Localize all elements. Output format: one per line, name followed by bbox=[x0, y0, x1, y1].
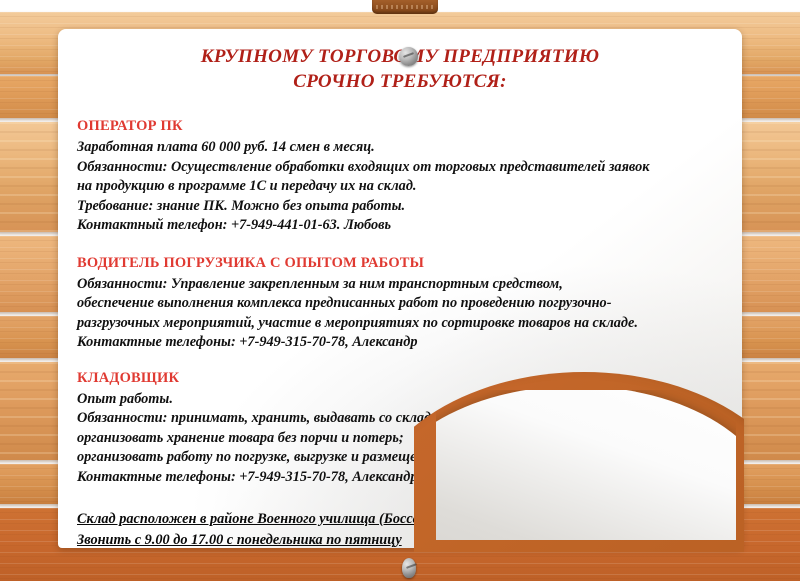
job-line: обеспечение выполнения комплекса предпис… bbox=[77, 294, 728, 314]
job-line: на продукцию в программе 1С и передачу и… bbox=[77, 177, 728, 197]
job-listing-kladovshchik: КЛАДОВЩИК Опыт работы. Обязанности: прин… bbox=[77, 370, 728, 488]
job-line: Обязанности: Осуществление обработки вхо… bbox=[77, 158, 728, 178]
job-contact-line: Контактные телефоны: +7-949-315-70-78, А… bbox=[77, 468, 728, 488]
poster-footer: Склад расположен в районе Военного учили… bbox=[77, 509, 742, 551]
footer-location-line: Склад расположен в районе Военного учили… bbox=[77, 509, 742, 530]
job-heading: КЛАДОВЩИК bbox=[77, 370, 728, 387]
job-line: Обязанности: Управление закрепленным за … bbox=[77, 275, 728, 295]
job-heading: ВОДИТЕЛЬ ПОГРУЗЧИКА С ОПЫТОМ РАБОТЫ bbox=[77, 255, 728, 272]
job-line: разгрузочных мероприятий, участие в меро… bbox=[77, 314, 728, 334]
title-line-2: СРОЧНО ТРЕБУЮТСЯ: bbox=[58, 69, 742, 94]
job-listing-voditel-pogruzchika: ВОДИТЕЛЬ ПОГРУЗЧИКА С ОПЫТОМ РАБОТЫ Обяз… bbox=[77, 255, 728, 353]
job-line: Заработная плата 60 000 руб. 14 смен в м… bbox=[77, 138, 728, 158]
job-contact-line: Контактный телефон: +7-949-441-01-63. Лю… bbox=[77, 216, 728, 236]
paper-sheet: КРУПНОМУ ТОРГОВОМУ ПРЕДПРИЯТИЮ СРОЧНО ТР… bbox=[58, 29, 742, 548]
poster-stage: КРУПНОМУ ТОРГОВОМУ ПРЕДПРИЯТИЮ СРОЧНО ТР… bbox=[0, 0, 800, 581]
job-line: организовать работу по погрузке, выгрузк… bbox=[77, 448, 728, 468]
footer-hours-line: Звонить с 9.00 до 17.00 с понедельника п… bbox=[77, 530, 742, 551]
job-line: Обязанности: принимать, хранить, выдават… bbox=[77, 409, 728, 429]
screw-icon bbox=[402, 558, 416, 578]
board-hanger-tab bbox=[372, 0, 438, 14]
job-contact-line: Контактные телефоны: +7-949-315-70-78, А… bbox=[77, 333, 728, 353]
job-line: Опыт работы. bbox=[77, 390, 728, 410]
poster-content: КРУПНОМУ ТОРГОВОМУ ПРЕДПРИЯТИЮ СРОЧНО ТР… bbox=[58, 29, 742, 548]
job-listing-operator-pk: ОПЕРАТОР ПК Заработная плата 60 000 руб.… bbox=[77, 118, 728, 236]
job-line: организовать хранение товара без порчи и… bbox=[77, 429, 728, 449]
job-heading: ОПЕРАТОР ПК bbox=[77, 118, 728, 135]
job-line: Требование: знание ПК. Можно без опыта р… bbox=[77, 197, 728, 217]
nail-icon bbox=[399, 47, 418, 66]
